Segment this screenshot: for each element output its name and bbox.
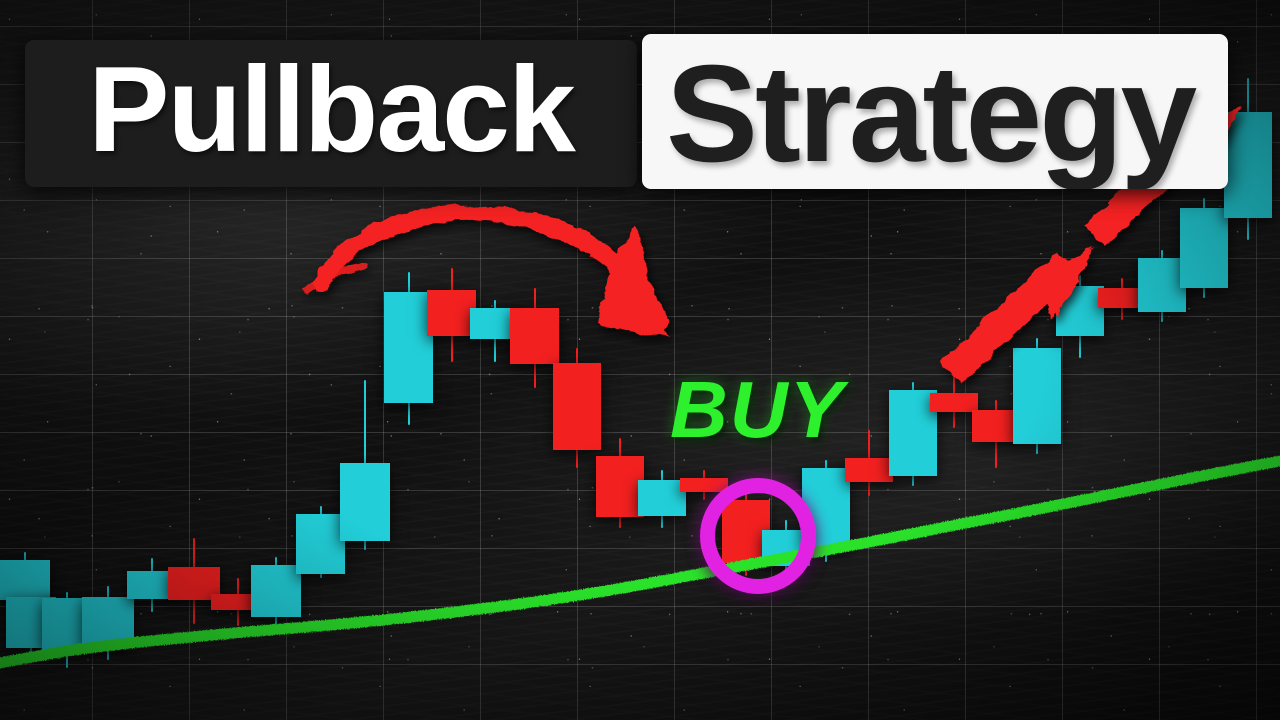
- title-left-box: Pullback: [25, 40, 637, 187]
- circle-highlight-icon: [700, 478, 816, 594]
- thumbnail-canvas: BUY Pullback Strategy: [0, 0, 1280, 720]
- curved-down-arrow-icon: [308, 213, 668, 338]
- title-right-box: Strategy: [642, 34, 1228, 189]
- up-arrow-icon-lower: [952, 246, 1094, 372]
- title-right-text: Strategy: [666, 45, 1194, 183]
- title-left-text: Pullback: [88, 48, 574, 170]
- buy-signal-label: BUY: [670, 370, 845, 450]
